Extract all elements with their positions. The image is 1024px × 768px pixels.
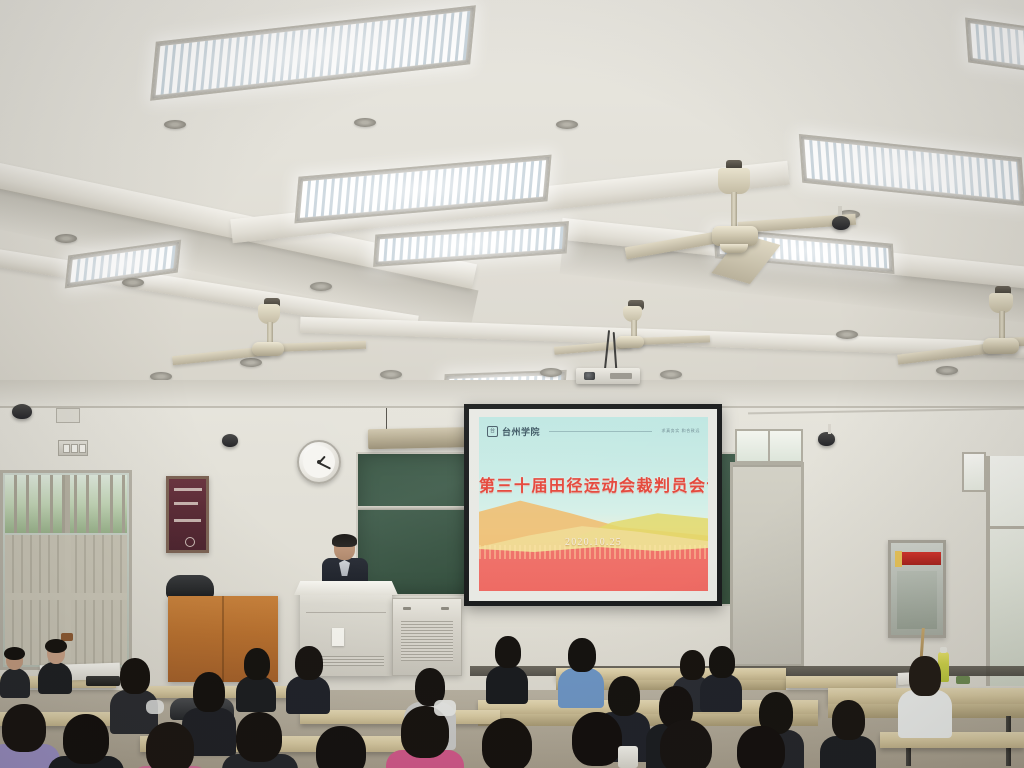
face-mask [434, 700, 456, 716]
bottle-cap [940, 647, 947, 653]
recessed-downlight [660, 370, 682, 379]
slide-header-subtext: 求真务实 和合致远 [661, 428, 700, 434]
ceiling-fan [600, 290, 610, 300]
surveillance-camera-icon [832, 216, 850, 230]
fan-blade [272, 341, 366, 352]
clock-center-pin [317, 460, 321, 464]
window-mullion [65, 475, 70, 533]
recessed-downlight [354, 118, 376, 127]
university-seal-icon: 台 [487, 426, 498, 437]
person-hair [4, 647, 25, 660]
person-hair [316, 726, 366, 768]
door-frame-line [733, 465, 801, 467]
audience-person [486, 636, 528, 698]
audience-person [286, 646, 330, 708]
recessed-downlight [540, 368, 562, 377]
person-torso [898, 690, 952, 738]
audience-person [38, 640, 72, 688]
person-torso [0, 668, 30, 698]
person-torso [286, 676, 330, 714]
surveillance-camera-icon [12, 404, 32, 419]
person-hair [608, 676, 640, 716]
person-hair [120, 658, 150, 694]
ceiling-fan [236, 298, 386, 378]
cabinet-vent [401, 621, 453, 661]
classroom-door[interactable] [730, 462, 804, 667]
audience-person [300, 726, 382, 768]
person-torso [820, 736, 876, 768]
presenter-hair [332, 534, 357, 547]
light-switch-panel[interactable] [58, 440, 88, 456]
av-equipment-cabinet [392, 598, 462, 676]
framed-notice-poster [166, 476, 209, 553]
audience-person [222, 712, 298, 768]
audience-person [722, 726, 800, 768]
recessed-downlight [164, 120, 186, 129]
panel-tag-icon [895, 551, 902, 567]
door-transom-window [735, 429, 803, 463]
projector-lens-icon [584, 372, 595, 380]
projection-screen: 台 台州学院 求真务实 和合致远 第三十届田径运动会裁判员会议 2020.10.… [464, 404, 722, 606]
person-hair [572, 712, 622, 766]
person-torso [38, 662, 72, 694]
person-torso [236, 676, 276, 712]
recessed-downlight [836, 330, 858, 339]
right-window [986, 456, 1024, 686]
lectern-panel-line [306, 612, 386, 613]
audience-person [700, 646, 742, 706]
small-green-object [956, 676, 970, 684]
cup [618, 746, 638, 768]
person-torso [700, 674, 742, 712]
slide-title: 第三十届田径运动会裁判员会议 [479, 472, 708, 496]
person-hair [244, 648, 270, 680]
ceiling-fan [965, 286, 1024, 376]
person-hair [193, 672, 225, 712]
board-lamp-wire [386, 408, 387, 430]
recessed-downlight [55, 234, 77, 243]
person-hair [146, 722, 194, 768]
slide-date: 2020.10.25 [479, 537, 708, 548]
audience-person [48, 714, 124, 768]
poster-text-line [174, 519, 201, 522]
fan-blade [634, 335, 710, 345]
person-hair [737, 726, 785, 768]
cabinet-handle-icon[interactable] [403, 607, 411, 610]
person-hair [709, 646, 735, 678]
recessed-downlight [556, 120, 578, 129]
audience-person [644, 720, 726, 768]
person-hair [660, 720, 712, 768]
panel-interior [897, 571, 937, 629]
ceiling-fan [600, 300, 730, 370]
recessed-downlight [936, 366, 958, 375]
cabinet-handle-icon[interactable] [441, 607, 449, 610]
screen-surface: 台 台州学院 求真务实 和合致远 第三十届田径运动会裁判员会议 2020.10.… [469, 409, 717, 601]
surveillance-camera-icon [222, 434, 238, 447]
lectern-top [294, 581, 398, 595]
window-mullion [990, 526, 1024, 529]
person-hair [495, 636, 521, 668]
audience-person [898, 656, 952, 734]
ceiling-projector [576, 368, 640, 384]
wall-outlet-box [56, 408, 80, 423]
person-hair [568, 638, 596, 672]
slide-header-rule [549, 431, 652, 432]
panel-warning-label [897, 552, 941, 565]
cabinet-seam [222, 596, 224, 682]
audience-person [466, 718, 546, 768]
person-hair [236, 712, 282, 762]
person-torso [486, 666, 528, 704]
person-hair [832, 700, 865, 740]
person-hair [45, 639, 67, 653]
electrical-panel-box [888, 540, 946, 638]
university-name: 台州学院 [502, 425, 540, 438]
audience-person [820, 700, 876, 768]
surveillance-camera-icon [818, 432, 835, 446]
camera-mount [828, 424, 831, 434]
slide-header: 台 台州学院 求真务实 和合致远 [487, 424, 700, 438]
audience-person [0, 648, 30, 694]
desk-row [786, 676, 896, 688]
recessed-downlight [310, 282, 332, 291]
wall-clock [297, 440, 341, 484]
face-mask [146, 700, 164, 714]
person-hair [295, 646, 323, 680]
right-upper-window [962, 452, 986, 492]
poster-text-line [174, 488, 202, 491]
person-hair [909, 656, 941, 696]
poster-seal-icon [185, 537, 195, 547]
presentation-slide: 台 台州学院 求真务实 和合致远 第三十届田径运动会裁判员会议 2020.10.… [479, 417, 708, 591]
lectern-paper [332, 628, 344, 646]
person-hair [482, 718, 532, 768]
clock-face [303, 446, 335, 478]
recessed-downlight [122, 278, 144, 287]
audience-person [236, 648, 276, 708]
person-hair [2, 704, 46, 752]
classroom-photo: 台 台州学院 求真务实 和合致远 第三十届田径运动会裁判员会议 2020.10.… [0, 0, 1024, 768]
person-hair [63, 714, 109, 764]
audience-person [130, 722, 210, 768]
poster-text-line [174, 502, 198, 505]
